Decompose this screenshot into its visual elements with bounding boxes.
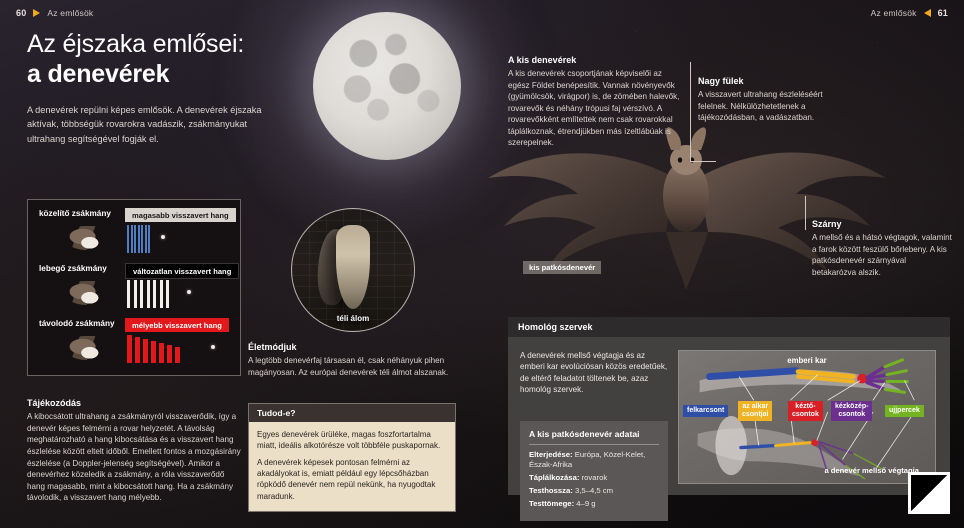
callout-szarny: Szárny A mellső és a hátsó végtagok, val… (812, 219, 952, 278)
species-data-title: A kis patkósdenevér adatai (529, 429, 659, 445)
homologous-organs-panel: Homológ szervek A denevérek mellső végta… (508, 317, 950, 495)
title-line-2: a denevérek (27, 60, 327, 90)
did-you-know-p2: A denevérek képesek pontosan felmérni az… (257, 457, 447, 502)
echo-row-tag: mélyebb visszavert hang (125, 318, 229, 332)
bone-label-2: az alkar csontjai (738, 401, 772, 421)
hibernation-photo: téli álom (291, 208, 415, 332)
bone-label-3: kéztő- csontok (788, 401, 823, 421)
leader-line-wing (805, 196, 806, 230)
homologous-intro: A denevérek mellső végtagja és az emberi… (520, 350, 668, 396)
callout-szarny-body: A mellső és a hátsó végtagok, valamint a… (812, 232, 952, 278)
callout-nagy-fulek-body: A visszavert ultrahang észleléséért fele… (698, 89, 848, 124)
arrow-left-icon (924, 9, 931, 17)
species-data-row: Elterjedése: Európa, Közel-Kelet, Észak-… (529, 450, 659, 471)
bat-forelimb-label: a denevér mellső végtagja (824, 466, 919, 476)
sound-wave-bars (127, 335, 183, 363)
section-label-right: Az emlősök (871, 8, 917, 18)
prey-insect-image (65, 281, 105, 305)
species-data-row: Testhossza: 3,5–4,5 cm (529, 486, 659, 496)
tajekozodas-body: A kibocsátott ultrahang a zsákmányról vi… (27, 411, 241, 504)
species-data-card: A kis patkósdenevér adatai Elterjedése: … (520, 421, 668, 521)
qr-code[interactable] (908, 472, 950, 514)
echo-row-tag: változatlan visszavert hang (125, 263, 239, 279)
tajekozodas-heading: Tájékozódás (27, 398, 241, 408)
bat-species-caption: kis patkósdenevér (523, 261, 601, 274)
arrow-right-icon (33, 9, 40, 17)
callout-szarny-heading: Szárny (812, 219, 952, 229)
species-data-row: Testtömege: 4–9 g (529, 499, 659, 509)
callout-nagy-fulek: Nagy fülek A visszavert ultrahang észlel… (698, 76, 848, 124)
title-line-1: Az éjszaka emlősei: (27, 30, 244, 58)
bone-label-1: felkarcsont (683, 405, 728, 417)
section-tajekozodas: Tájékozódás A kibocsátott ultrahang a zs… (27, 398, 241, 504)
callout-kis-denever: A kis denevérek A kis denevérek csoportj… (508, 55, 684, 149)
echo-row-tag: magasabb visszavert hang (125, 208, 236, 222)
prey-insect-image (65, 336, 105, 360)
eletmodjuk-heading: Életmódjuk (248, 342, 453, 352)
homologous-heading: Homológ szervek (508, 317, 950, 337)
prey-insect-image (65, 226, 105, 250)
folio-right: 61 (938, 8, 948, 18)
target-dot (187, 290, 191, 294)
section-eletmodjuk: Életmódjuk A legtöbb denevérfaj társasan… (248, 342, 453, 378)
callout-kis-denever-body: A kis denevérek csoportjának képviselői … (508, 68, 684, 149)
callout-kis-denever-heading: A kis denevérek (508, 55, 684, 65)
did-you-know-box: Tudod-e? Egyes denevérek ürüléke, magas … (248, 403, 456, 512)
moon-photo (313, 12, 461, 160)
folio-left: 60 (16, 8, 26, 18)
bone-label-4: kézközép- csontok (831, 401, 872, 421)
eletmodjuk-body: A legtöbb denevérfaj társasan él, csak n… (248, 355, 453, 378)
target-dot (211, 345, 215, 349)
section-label-left: Az emlősök (47, 8, 93, 18)
did-you-know-heading: Tudod-e? (249, 404, 455, 422)
target-dot (161, 235, 165, 239)
species-data-row: Táplálkozása: rovarok (529, 473, 659, 483)
sound-wave-bars (127, 280, 173, 308)
echo-row: közelítő zsákmánymagasabb visszavert han… (39, 209, 229, 264)
bone-label-5: ujjpercek (885, 405, 924, 417)
did-you-know-body: Egyes denevérek ürüléke, magas foszforta… (249, 422, 455, 511)
echo-row: lebegő zsákmányváltozatlan visszavert ha… (39, 264, 229, 319)
running-head-left: 60 Az emlősök (16, 8, 93, 18)
lede-paragraph: A denevérek repülni képes emlősök. A den… (27, 103, 273, 146)
echo-row: távolodó zsákmánymélyebb visszavert hang (39, 319, 229, 374)
hibernation-caption: téli álom (292, 314, 414, 323)
magazine-spread: 60 Az emlősök Az emlősök 61 Az éjszaka e… (0, 0, 964, 528)
leader-line-ears (690, 62, 691, 162)
page-title: Az éjszaka emlősei: a denevérek A denevé… (27, 30, 327, 146)
did-you-know-p1: Egyes denevérek ürüléke, magas foszforta… (257, 429, 447, 452)
limb-comparison-diagram: emberi kar (678, 350, 936, 484)
running-head-right: Az emlősök 61 (871, 8, 948, 18)
sound-wave-bars (127, 225, 152, 253)
species-data-list: Elterjedése: Európa, Közel-Kelet, Észak-… (529, 450, 659, 510)
callout-nagy-fulek-heading: Nagy fülek (698, 76, 848, 86)
leader-line-ears-h (690, 161, 716, 162)
echolocation-diagram: közelítő zsákmánymagasabb visszavert han… (27, 199, 241, 376)
